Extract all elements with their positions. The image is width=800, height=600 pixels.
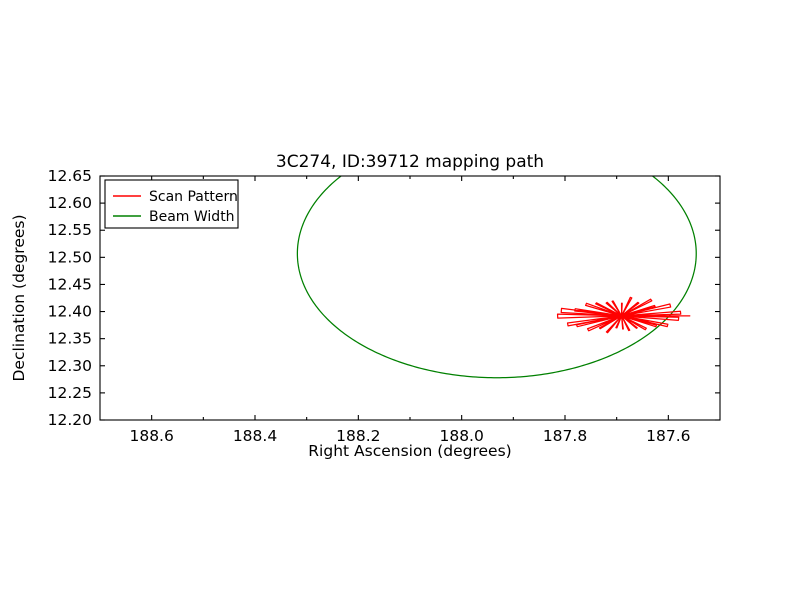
legend[interactable]: Scan Pattern Beam Width xyxy=(105,180,238,228)
x-axis-label: Right Ascension (degrees) xyxy=(308,442,511,460)
legend-label-scan-pattern: Scan Pattern xyxy=(149,189,238,205)
x-tick-label: 187.6 xyxy=(646,427,690,445)
chart-title: 3C274, ID:39712 mapping path xyxy=(276,152,544,172)
y-tick-label: 12.55 xyxy=(48,221,92,239)
y-tick-label: 12.20 xyxy=(48,411,92,429)
y-tick-label: 12.65 xyxy=(48,167,92,185)
y-tick-label: 12.60 xyxy=(48,194,92,212)
figure-canvas: 188.6188.4188.2188.0187.8187.612.2012.25… xyxy=(0,0,800,600)
y-tick-label: 12.50 xyxy=(48,248,92,266)
y-tick-label: 12.30 xyxy=(48,357,92,375)
y-tick-label: 12.35 xyxy=(48,330,92,348)
y-tick-label: 12.25 xyxy=(48,384,92,402)
x-tick-label: 188.4 xyxy=(233,427,277,445)
y-tick-label: 12.40 xyxy=(48,303,92,321)
y-tick-label: 12.45 xyxy=(48,275,92,293)
legend-label-beam-width: Beam Width xyxy=(149,209,235,225)
x-tick-label: 187.8 xyxy=(543,427,587,445)
x-tick-label: 188.6 xyxy=(129,427,173,445)
plot-area[interactable]: 188.6188.4188.2188.0187.8187.612.2012.25… xyxy=(0,0,800,600)
y-axis-label: Declination (degrees) xyxy=(10,214,28,381)
